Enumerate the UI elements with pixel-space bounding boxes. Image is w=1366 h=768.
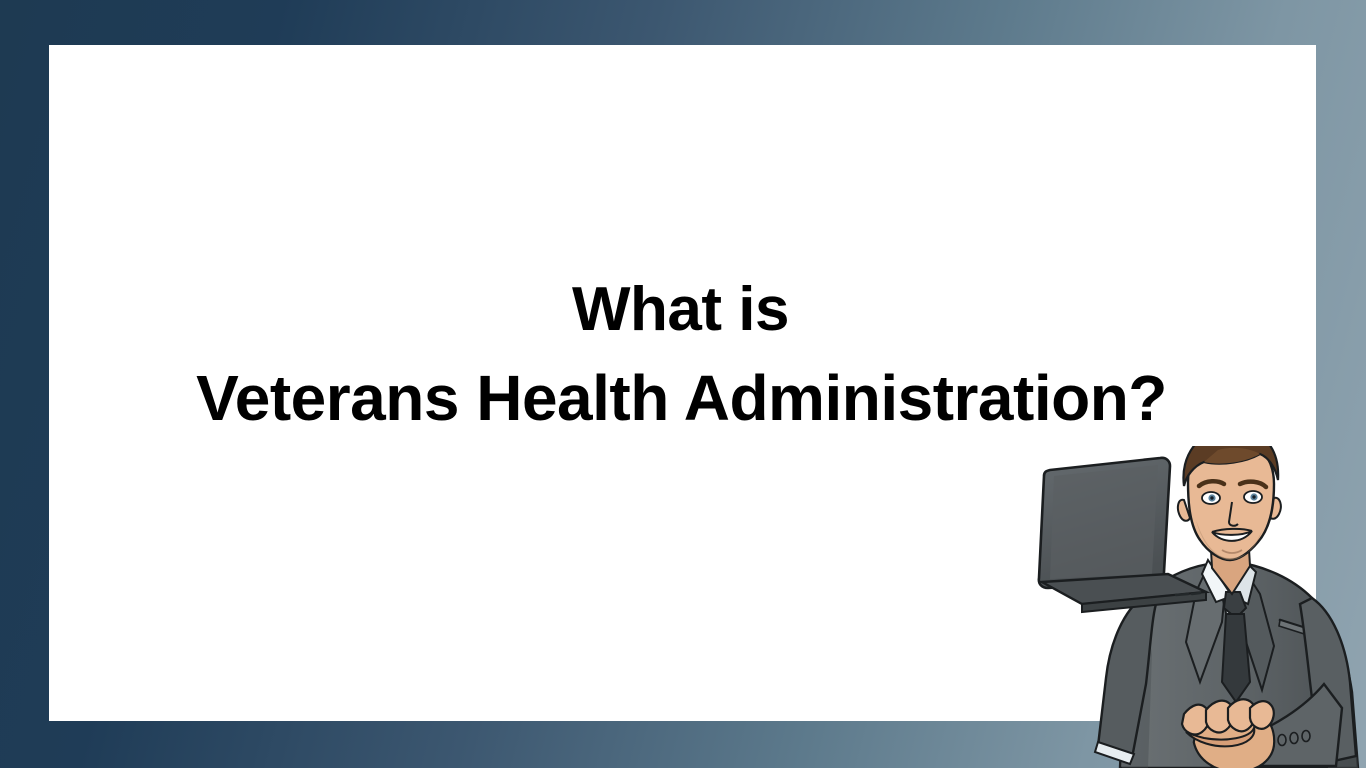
presentation-slide: What is Veterans Health Administration? [0,0,1366,768]
slide-title-line-1: What is [45,270,1316,350]
slide-title-line-2: Veterans Health Administration? [47,350,1316,446]
slide-title-block: What is Veterans Health Administration? [49,270,1316,446]
